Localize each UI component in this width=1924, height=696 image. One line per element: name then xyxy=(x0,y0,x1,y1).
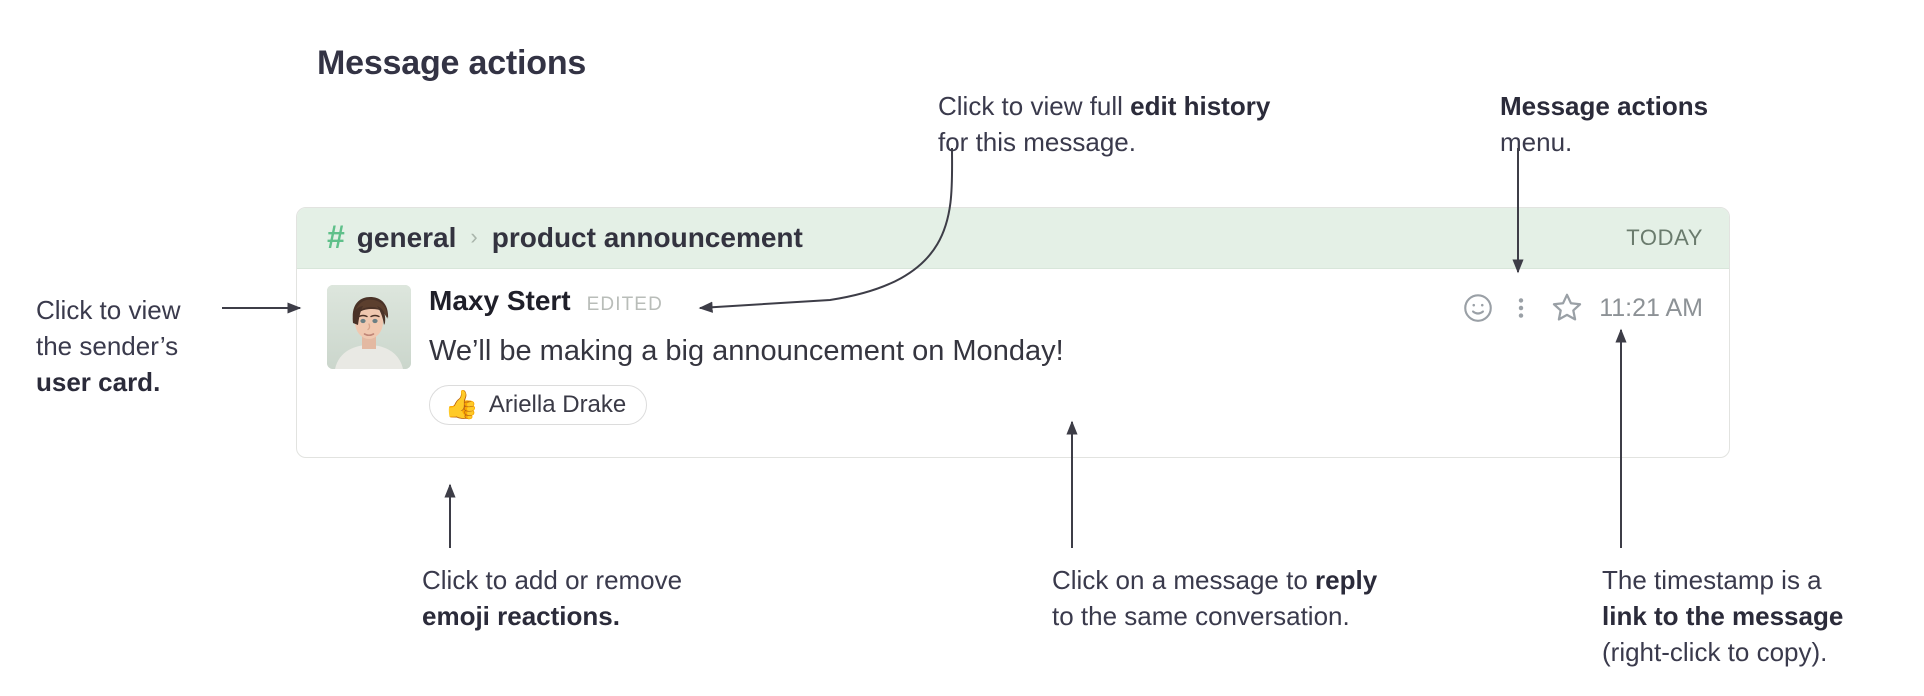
annotation-emoji-reactions: Click to add or remove emoji reactions. xyxy=(422,562,682,634)
annotation-timestamp-link-line3: (right-click to copy). xyxy=(1602,634,1843,670)
hash-icon: # xyxy=(327,221,345,253)
message-timestamp-link[interactable]: 11:21 AM xyxy=(1599,294,1703,323)
annotation-edit-history-line2: for this message. xyxy=(938,124,1270,160)
sender-name[interactable]: Maxy Stert xyxy=(429,285,571,317)
message-row[interactable]: Maxy Stert EDITED We’ll be making a big … xyxy=(297,269,1729,425)
reaction-chip[interactable]: 👍 Ariella Drake xyxy=(429,385,647,425)
edited-label[interactable]: EDITED xyxy=(587,294,663,316)
annotation-edit-history-line1-pre: Click to view full xyxy=(938,91,1130,121)
annotation-message-actions-line1: Message actions xyxy=(1500,91,1708,121)
message-card[interactable]: # general › product announcement TODAY xyxy=(296,207,1730,458)
message-text[interactable]: We’ll be making a big announcement on Mo… xyxy=(429,331,1703,371)
annotation-user-card-line1: Click to view xyxy=(36,292,251,328)
annotation-reply-line1-bold: reply xyxy=(1315,565,1377,595)
thumbs-up-icon: 👍 xyxy=(444,391,479,419)
annotation-reply-line2: to the same conversation. xyxy=(1052,598,1377,634)
vertical-dots-icon[interactable] xyxy=(1501,291,1541,325)
annotation-user-card-line2: the sender’s xyxy=(36,328,251,364)
annotation-timestamp-link: The timestamp is a link to the message (… xyxy=(1602,562,1843,670)
reaction-row: 👍 Ariella Drake xyxy=(429,385,1703,425)
chevron-right-icon: › xyxy=(470,226,477,248)
annotation-emoji-reactions-line2: emoji reactions. xyxy=(422,601,620,631)
topic-name-link[interactable]: product announcement xyxy=(492,222,803,254)
annotation-reply: Click on a message to reply to the same … xyxy=(1052,562,1377,634)
annotation-message-actions: Message actions menu. xyxy=(1500,88,1708,160)
page-title: Message actions xyxy=(317,44,586,83)
annotation-user-card-line3: user card. xyxy=(36,367,160,397)
page-root: Message actions Click to view full edit … xyxy=(0,0,1924,696)
annotation-message-actions-line2: menu. xyxy=(1500,124,1708,160)
star-icon[interactable] xyxy=(1541,290,1593,326)
reaction-label: Ariella Drake xyxy=(489,391,626,419)
stream-name-link[interactable]: general xyxy=(357,222,457,254)
message-controls: 11:21 AM xyxy=(1455,287,1703,329)
annotation-user-card: Click to view the sender’s user card. xyxy=(36,292,251,400)
avatar[interactable] xyxy=(327,285,411,369)
avatar-photo xyxy=(327,285,411,369)
annotation-timestamp-link-line1: The timestamp is a xyxy=(1602,562,1843,598)
emoji-picker-icon[interactable] xyxy=(1455,291,1501,325)
annotation-emoji-reactions-line1: Click to add or remove xyxy=(422,562,682,598)
recipient-bar[interactable]: # general › product announcement TODAY xyxy=(297,208,1729,269)
recipient-date-label[interactable]: TODAY xyxy=(1626,225,1703,251)
annotation-edit-history: Click to view full edit history for this… xyxy=(938,88,1270,160)
annotation-edit-history-line1: Click to view full edit history xyxy=(938,88,1270,124)
annotation-timestamp-link-line2: link to the message xyxy=(1602,601,1843,631)
annotation-edit-history-line1-bold: edit history xyxy=(1130,91,1270,121)
annotation-reply-line1-pre: Click on a message to xyxy=(1052,565,1315,595)
